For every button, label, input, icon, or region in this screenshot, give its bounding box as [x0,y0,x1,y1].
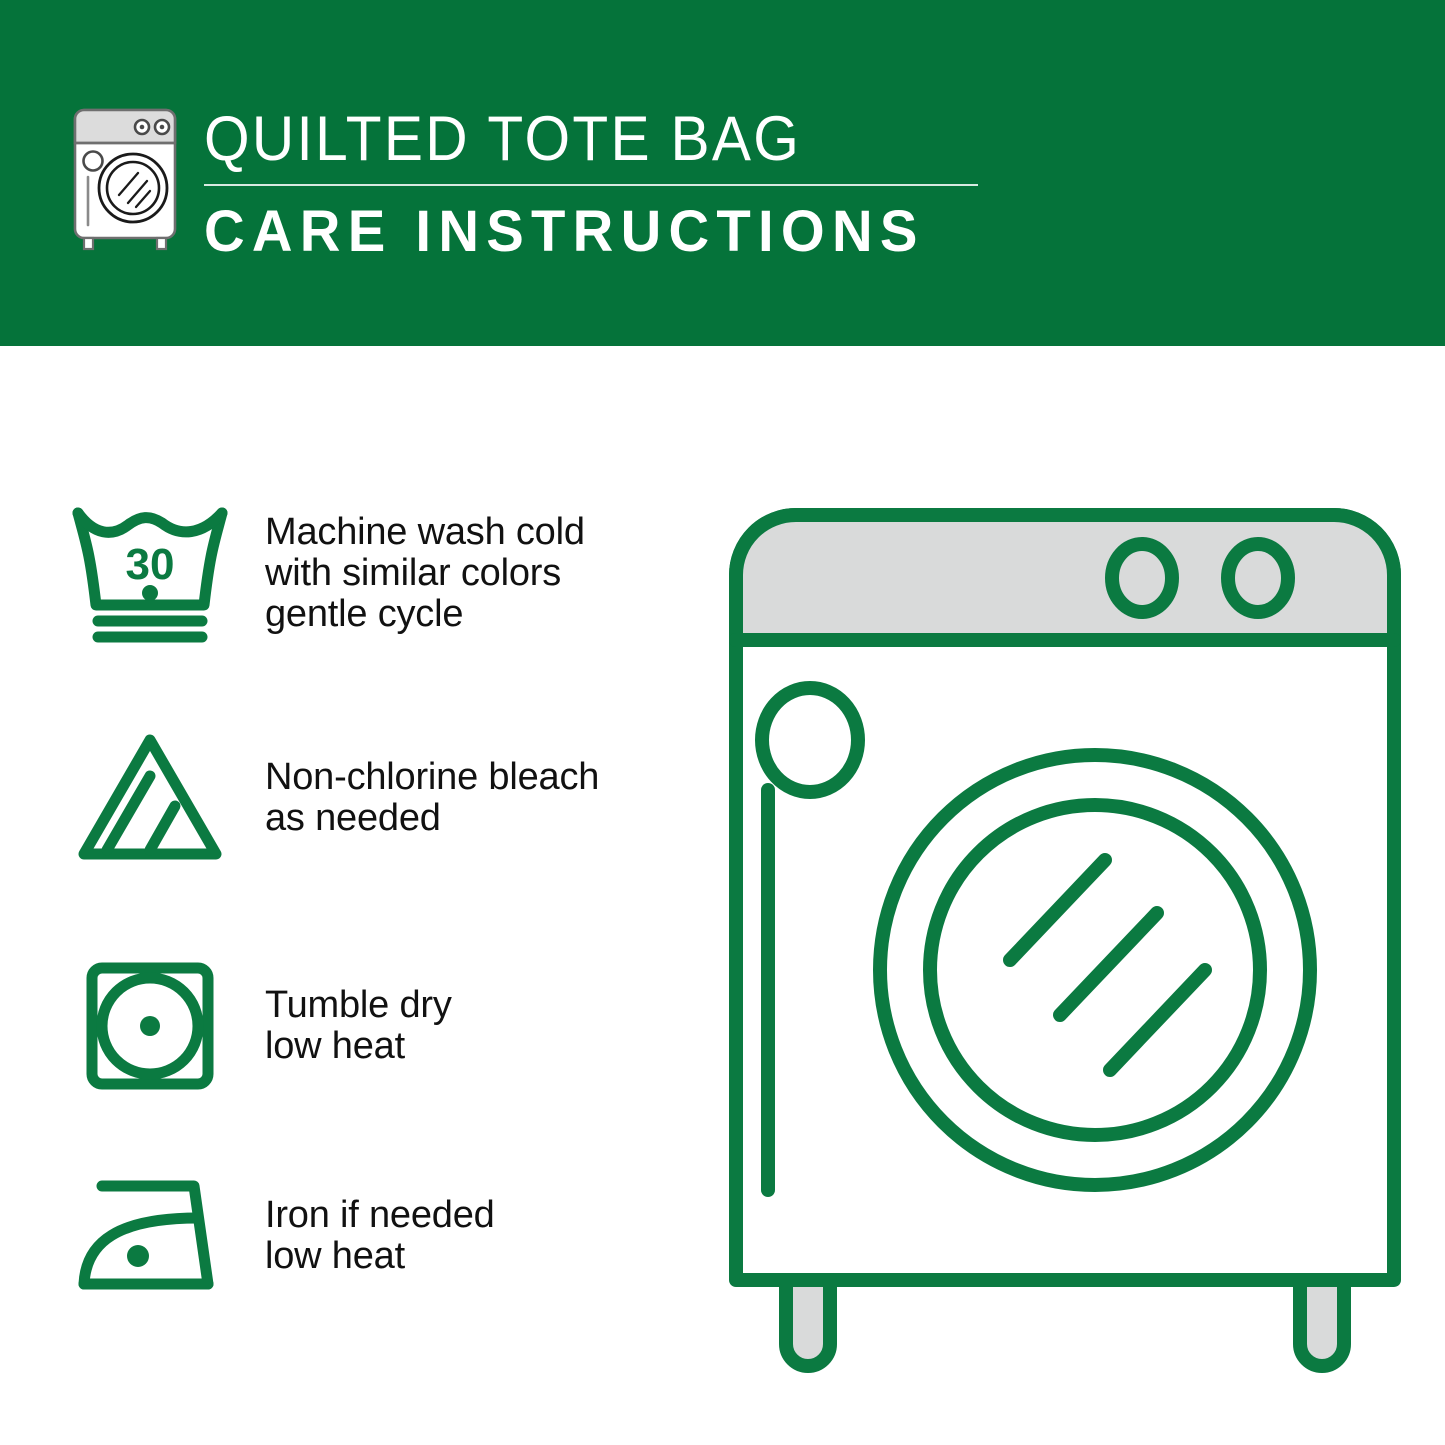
care-row-iron: Iron if needed low heat [0,1151,700,1321]
care-label: Non-chlorine bleach as needed [265,757,599,839]
care-row-machine-wash: 30 Machine wash cold with similar colors… [0,488,700,658]
non-chlorine-bleach-triangle-icon [62,718,237,878]
header-text-block: QUILTED TOTE BAG CARE INSTRUCTIONS [204,102,994,266]
care-label: Machine wash cold with similar colors ge… [265,512,585,635]
iron-low-heat-icon [62,1156,237,1316]
title-divider [204,184,978,186]
washing-machine-illustration [710,470,1420,1380]
header-band: QUILTED TOTE BAG CARE INSTRUCTIONS [0,0,1445,346]
wash-tub-30-icon: 30 [62,493,237,653]
care-instructions-page: QUILTED TOTE BAG CARE INSTRUCTIONS [0,0,1445,1445]
care-label: Iron if needed low heat [265,1195,495,1277]
page-title: QUILTED TOTE BAG [204,102,939,176]
care-row-bleach: Non-chlorine bleach as needed [0,713,700,883]
svg-text:30: 30 [125,540,174,589]
care-label: Tumble dry low heat [265,985,452,1067]
care-instruction-list: 30 Machine wash cold with similar colors… [0,346,700,1445]
washing-machine-icon [66,103,184,251]
care-row-tumble-dry: Tumble dry low heat [0,941,700,1111]
page-subtitle: CARE INSTRUCTIONS [204,198,970,266]
tumble-dry-low-icon [62,946,237,1106]
